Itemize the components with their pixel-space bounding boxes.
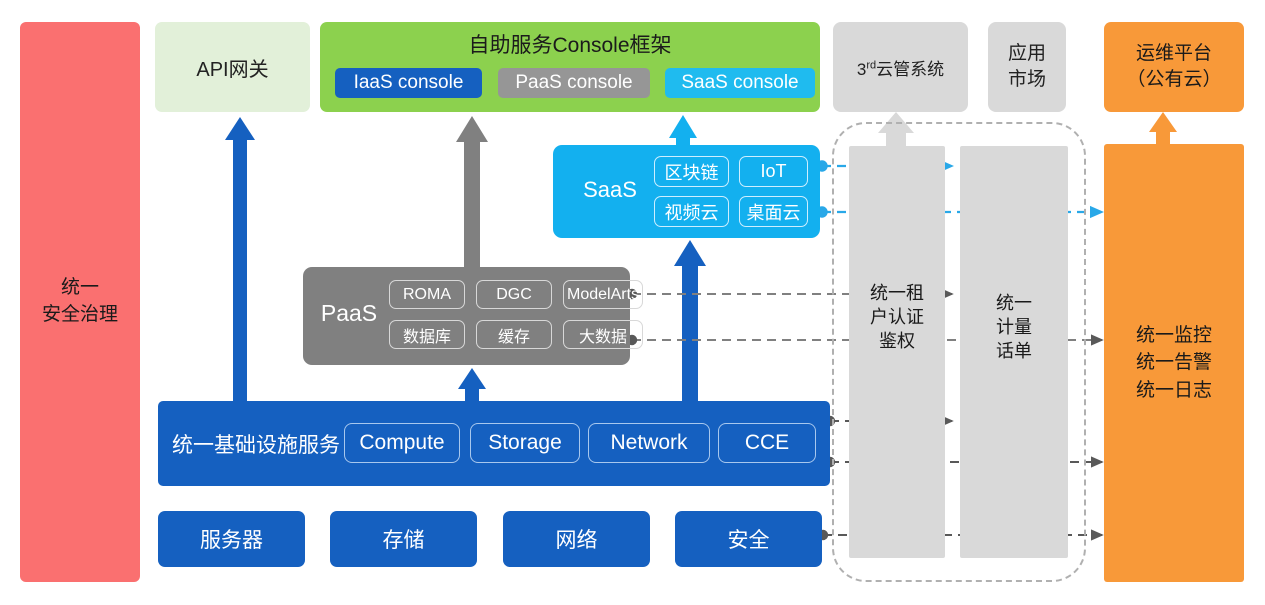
- paas-service-database[interactable]: 数据库: [389, 320, 465, 349]
- paas-chip-label-1: DGC: [496, 286, 532, 304]
- resource-label-2: 网络: [556, 524, 598, 554]
- resource-label-1: 存储: [383, 524, 425, 554]
- paas-layer-box: PaaS ROMA DGC ModelArts 数据库 缓存 大数据: [303, 267, 630, 365]
- orange-up-arrow-to-ops-platform: [1149, 112, 1177, 144]
- ops-body-line-3: 统一日志: [1136, 377, 1212, 405]
- saas-chip-label-3: 桌面云: [747, 199, 801, 225]
- paas-chip-label-0: ROMA: [403, 286, 451, 304]
- ops-platform-line-1: 运维平台: [1126, 41, 1221, 67]
- blue-up-arrow-to-api-gateway: [225, 117, 255, 401]
- infra-chip-label-0: Compute: [359, 431, 444, 455]
- blue-up-arrow-to-saas: [674, 240, 706, 401]
- self-service-console-framework: 自助服务Console框架 IaaS console PaaS console …: [320, 22, 820, 112]
- saas-chip-label-1: IoT: [760, 161, 786, 182]
- infra-service-compute[interactable]: Compute: [344, 423, 460, 463]
- resource-box-storage[interactable]: 存储: [330, 511, 477, 567]
- resource-box-network[interactable]: 网络: [503, 511, 650, 567]
- ops-monitoring-panel: 统一监控 统一告警 统一日志: [1104, 144, 1244, 582]
- infra-service-network[interactable]: Network: [588, 423, 710, 463]
- blue-up-arrow-to-paas: [458, 368, 486, 401]
- unified-infrastructure-bar: 统一基础设施服务 Compute Storage Network CCE: [158, 401, 830, 486]
- security-label-line-1: 统一: [42, 275, 118, 302]
- resource-label-3: 安全: [728, 524, 770, 554]
- ops-body-line-2: 统一告警: [1136, 349, 1212, 377]
- paas-service-roma[interactable]: ROMA: [389, 280, 465, 309]
- saas-chip-label-0: 区块链: [665, 159, 719, 185]
- infra-service-cce[interactable]: CCE: [718, 423, 816, 463]
- unified-security-governance-panel: 统一 安全治理: [20, 22, 140, 582]
- paas-layer-label: PaaS: [313, 300, 385, 327]
- third-cloud-prefix: 3: [857, 60, 866, 79]
- app-market-line-1: 应用: [1008, 41, 1046, 67]
- saas-chip-label-2: 视频云: [665, 199, 719, 225]
- auth-line-3: 鉴权: [849, 330, 945, 354]
- third-cloud-label: 3rd云管系统: [857, 55, 944, 80]
- saas-layer-box: SaaS 区块链 IoT 视频云 桌面云: [553, 145, 820, 238]
- paas-service-modelarts[interactable]: ModelArts: [563, 280, 643, 309]
- unified-tenant-auth-label: 统一租 户认证 鉴权: [849, 282, 945, 353]
- paas-console-label: PaaS console: [515, 72, 632, 94]
- api-gateway-label: API网关: [196, 53, 268, 82]
- ops-platform-box: 运维平台 （公有云）: [1104, 22, 1244, 112]
- paas-service-bigdata[interactable]: 大数据: [563, 320, 643, 349]
- application-market-box: 应用 市场: [988, 22, 1066, 112]
- auth-line-1: 统一租: [849, 282, 945, 306]
- infra-service-storage[interactable]: Storage: [470, 423, 580, 463]
- ops-body-line-1: 统一监控: [1136, 322, 1212, 350]
- paas-service-dgc[interactable]: DGC: [476, 280, 552, 309]
- cyan-up-arrow-to-console: [669, 115, 697, 146]
- unified-metering-label: 统一 计量 话单: [960, 292, 1068, 363]
- saas-service-desktop-cloud[interactable]: 桌面云: [739, 196, 808, 227]
- saas-console-chip[interactable]: SaaS console: [665, 68, 815, 98]
- saas-layer-label: SaaS: [567, 177, 653, 203]
- meter-line-1: 统一: [960, 292, 1068, 316]
- third-party-cloud-management-box: 3rd云管系统: [833, 22, 968, 112]
- saas-service-video-cloud[interactable]: 视频云: [654, 196, 729, 227]
- paas-console-chip[interactable]: PaaS console: [498, 68, 650, 98]
- third-cloud-superscript: rd: [866, 59, 876, 71]
- resource-box-server[interactable]: 服务器: [158, 511, 305, 567]
- third-cloud-suffix: 云管系统: [876, 60, 944, 79]
- app-market-line-2: 市场: [1008, 67, 1046, 93]
- meter-line-2: 计量: [960, 316, 1068, 340]
- console-framework-title: 自助服务Console框架: [320, 29, 820, 59]
- auth-line-2: 户认证: [849, 306, 945, 330]
- resource-box-security[interactable]: 安全: [675, 511, 822, 567]
- saas-service-iot[interactable]: IoT: [739, 156, 808, 187]
- saas-console-label: SaaS console: [681, 72, 798, 94]
- meter-line-3: 话单: [960, 340, 1068, 364]
- api-gateway-box: API网关: [155, 22, 310, 112]
- paas-chip-label-3: 数据库: [403, 323, 451, 347]
- iaas-console-chip[interactable]: IaaS console: [335, 68, 482, 98]
- infra-chip-label-1: Storage: [488, 431, 562, 455]
- infra-chip-label-2: Network: [610, 431, 687, 455]
- paas-service-cache[interactable]: 缓存: [476, 320, 552, 349]
- architecture-diagram: 统一租 户认证 鉴权 统一 计量 话单 统一 安全治理 API网关 自助服务Co…: [0, 0, 1265, 605]
- resource-label-0: 服务器: [200, 524, 263, 554]
- paas-chip-label-5: 大数据: [579, 323, 627, 347]
- unified-infrastructure-label: 统一基础设施服务: [172, 429, 340, 459]
- gray-up-arrow-to-console: [456, 116, 488, 267]
- saas-service-blockchain[interactable]: 区块链: [654, 156, 729, 187]
- ops-platform-line-2: （公有云）: [1126, 67, 1221, 93]
- paas-chip-label-4: 缓存: [498, 323, 530, 347]
- paas-chip-label-2: ModelArts: [567, 286, 639, 304]
- iaas-console-label: IaaS console: [354, 72, 464, 94]
- security-label-line-2: 安全治理: [42, 302, 118, 329]
- infra-chip-label-3: CCE: [745, 431, 789, 455]
